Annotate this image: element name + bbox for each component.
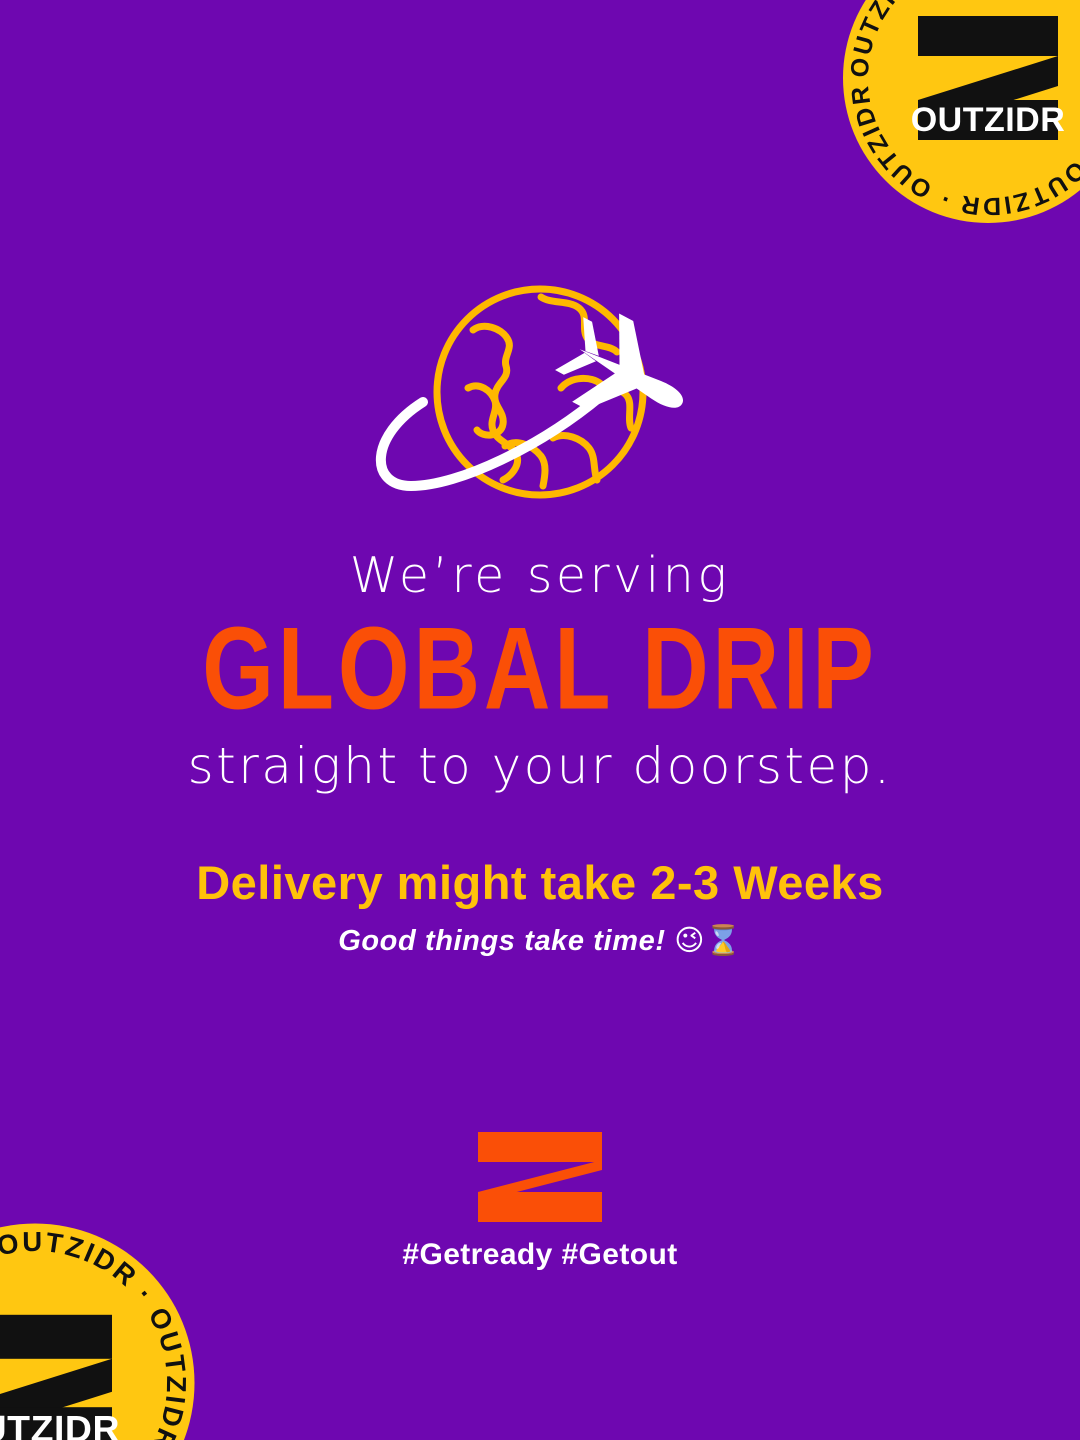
badge-svg-top-right: OUTZIDR · OUTZIDR · OUTZIDR · OUTZIDR · … <box>838 0 1080 228</box>
tagline-emoji: 😉⌛ <box>674 923 742 957</box>
airplane-tail-upper <box>570 317 612 358</box>
orbit-swoosh <box>381 396 601 486</box>
tagline-text: Good things take time! <box>338 925 665 957</box>
headline-text: GLOBAL DRIP <box>22 611 1059 728</box>
globe-continent-north <box>541 297 617 352</box>
hashtags-text: #Getready #Getout <box>0 1238 1080 1272</box>
badge-center-wordmark: OUTZIDR <box>0 1407 120 1440</box>
z-logo-top-bar <box>478 1132 602 1162</box>
badge-z-top-bar <box>0 1315 112 1359</box>
outzidr-z-logo <box>478 1132 602 1222</box>
kicker-text: We’re serving <box>0 548 1080 605</box>
tagline-row: Good things take time! 😉⌛ <box>0 923 1080 958</box>
delivery-estimate-text: Delivery might take 2-3 Weeks <box>0 857 1080 909</box>
globe-airplane-icon <box>355 270 725 520</box>
poster-canvas: OUTZIDR · OUTZIDR · OUTZIDR · OUTZIDR · … <box>0 0 1080 1440</box>
subline-text: straight to your doorstep. <box>0 737 1080 795</box>
z-logo-bottom-bar <box>478 1192 602 1222</box>
globe-airplane-illustration <box>0 270 1080 520</box>
main-copy-block: We’re serving GLOBAL DRIP straight to yo… <box>0 548 1080 958</box>
badge-z-top-bar <box>918 16 1058 56</box>
badge-center-wordmark: OUTZIDR <box>911 101 1066 139</box>
outzidr-badge-top-right: OUTZIDR · OUTZIDR · OUTZIDR · OUTZIDR · … <box>838 0 1080 228</box>
globe-continent-south <box>553 436 597 480</box>
footer-brand-block: #Getready #Getout <box>0 1132 1080 1272</box>
